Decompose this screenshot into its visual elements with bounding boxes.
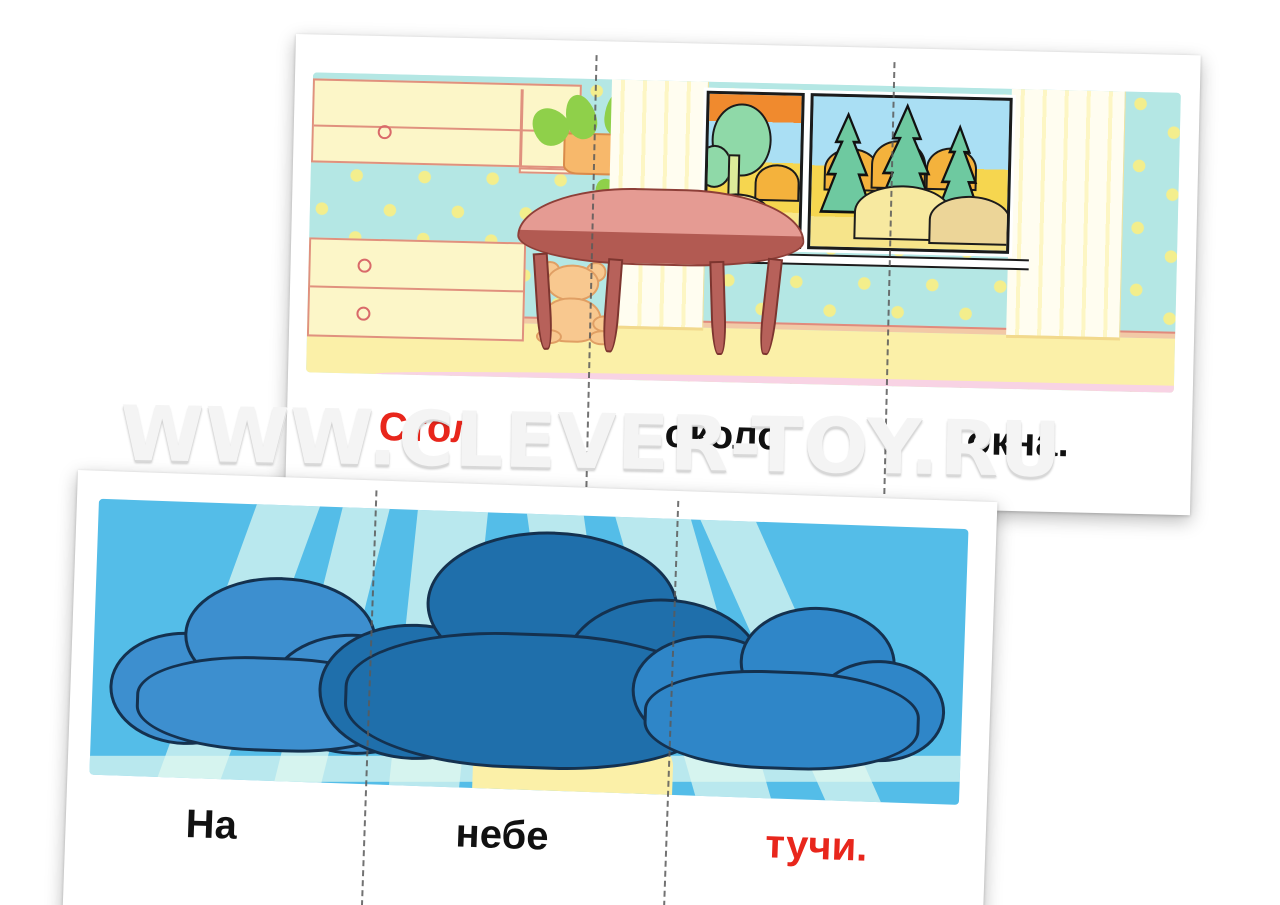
sky-illustration	[89, 499, 968, 805]
table-leg	[709, 260, 727, 354]
dresser-drawer	[309, 287, 523, 340]
dresser	[307, 237, 526, 341]
word-1[interactable]: Стол	[378, 405, 476, 452]
word-1[interactable]: На	[185, 802, 238, 849]
round-table	[515, 185, 805, 360]
card1-word-row: Стол около окна.	[286, 386, 1193, 485]
word-3[interactable]: тучи.	[765, 822, 869, 871]
dresser-drawer	[310, 239, 524, 292]
table-leg	[601, 258, 623, 353]
word-3[interactable]: окна.	[966, 418, 1070, 465]
curtain-right	[1006, 89, 1126, 341]
word-2[interactable]: около	[664, 411, 782, 459]
hill	[928, 195, 1012, 246]
dresser-knob	[356, 307, 370, 321]
dresser-knob	[357, 258, 371, 272]
room-illustration	[306, 72, 1181, 392]
window-pane-right	[807, 93, 1013, 254]
card2-word-row: На небе тучи.	[64, 798, 986, 905]
card-sentence-table[interactable]: Стол около окна.	[285, 34, 1201, 515]
table-leg	[757, 258, 783, 356]
cabinet-knob	[377, 125, 391, 139]
table-top	[517, 185, 805, 269]
word-2[interactable]: небе	[455, 811, 550, 859]
rug-pattern	[375, 367, 1173, 393]
cloud-right	[629, 589, 948, 782]
card-sentence-clouds[interactable]: На небе тучи.	[62, 470, 997, 905]
table-leg	[533, 253, 554, 351]
rug	[375, 367, 1173, 393]
screenshot-canvas: Стол около окна.	[0, 0, 1280, 905]
